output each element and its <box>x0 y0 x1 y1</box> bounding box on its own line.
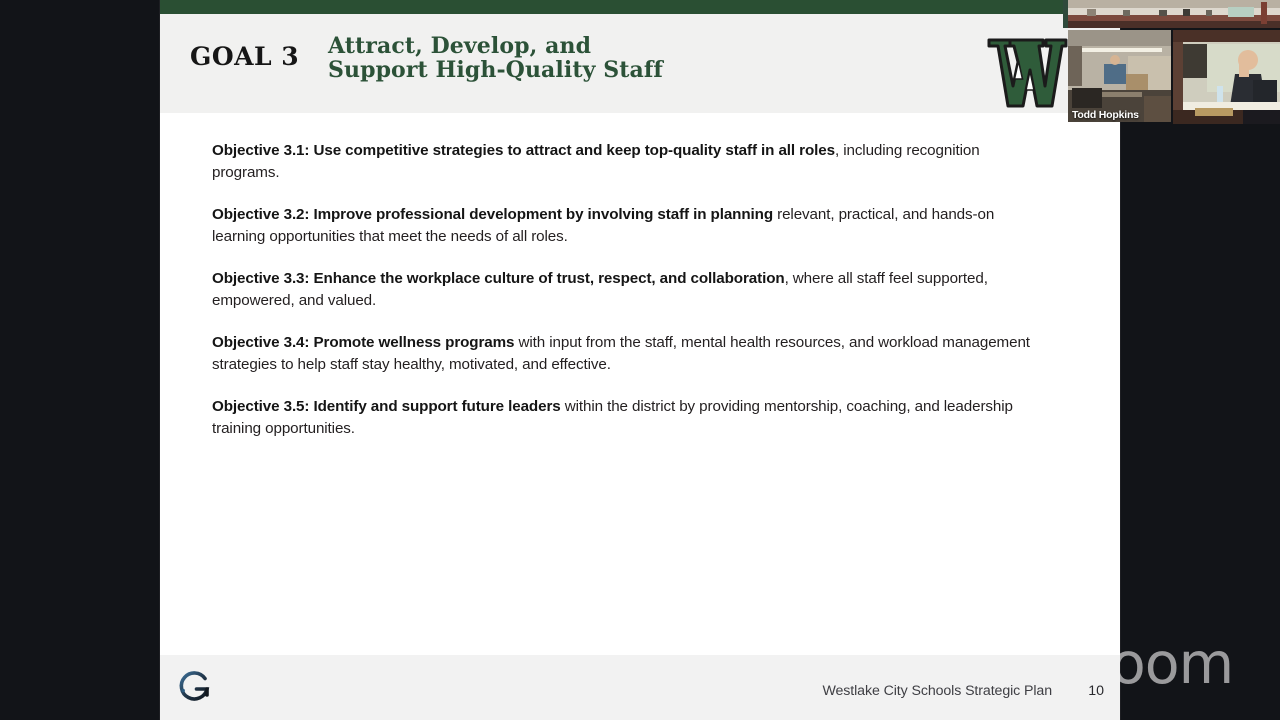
goal-title: Attract, Develop, and Support High-Quali… <box>328 34 663 82</box>
slide-page-number: 10 <box>1088 683 1104 699</box>
objectives-list: Objective 3.1: Use competitive strategie… <box>212 140 1034 439</box>
video-tile-name-label: Todd Hopkins <box>1072 109 1139 121</box>
objective-3-2-bold: Objective 3.2: Improve professional deve… <box>212 206 773 223</box>
objective-3-1: Objective 3.1: Use competitive strategie… <box>212 140 1034 183</box>
g-circle-logo-icon <box>174 667 216 709</box>
goal-label: GOAL 3 <box>190 42 299 71</box>
slide-accent-bar <box>160 0 1120 14</box>
slide-header: GOAL 3 Attract, Develop, and Support Hig… <box>160 14 1120 113</box>
zoom-participant-strip[interactable]: Todd Hopkins <box>1063 0 1280 124</box>
video-tile-todd-hopkins[interactable]: Todd Hopkins <box>1068 30 1171 122</box>
objective-3-3-bold: Objective 3.3: Enhance the workplace cul… <box>212 270 785 287</box>
objective-3-5: Objective 3.5: Identify and support futu… <box>212 396 1034 439</box>
objective-3-5-bold: Objective 3.5: Identify and support futu… <box>212 398 561 415</box>
footer-document-title: Westlake City Schools Strategic Plan <box>822 683 1052 699</box>
objective-3-1-bold: Objective 3.1: Use competitive strategie… <box>212 142 835 159</box>
video-tile-participant-right[interactable] <box>1173 30 1280 124</box>
presentation-slide: GOAL 3 Attract, Develop, and Support Hig… <box>160 0 1120 720</box>
objective-3-4: Objective 3.4: Promote wellness programs… <box>212 332 1034 375</box>
slide-footer: Westlake City Schools Strategic Plan 10 <box>160 655 1120 720</box>
video-tile-wide-room[interactable] <box>1063 0 1280 28</box>
westlake-w-logo-icon <box>985 34 1070 112</box>
objective-3-4-bold: Objective 3.4: Promote wellness programs <box>212 334 514 351</box>
screen: zoom GOAL 3 Attract, Develop, and Suppor… <box>0 0 1280 720</box>
objective-3-2: Objective 3.2: Improve professional deve… <box>212 204 1034 247</box>
objective-3-3: Objective 3.3: Enhance the workplace cul… <box>212 268 1034 311</box>
